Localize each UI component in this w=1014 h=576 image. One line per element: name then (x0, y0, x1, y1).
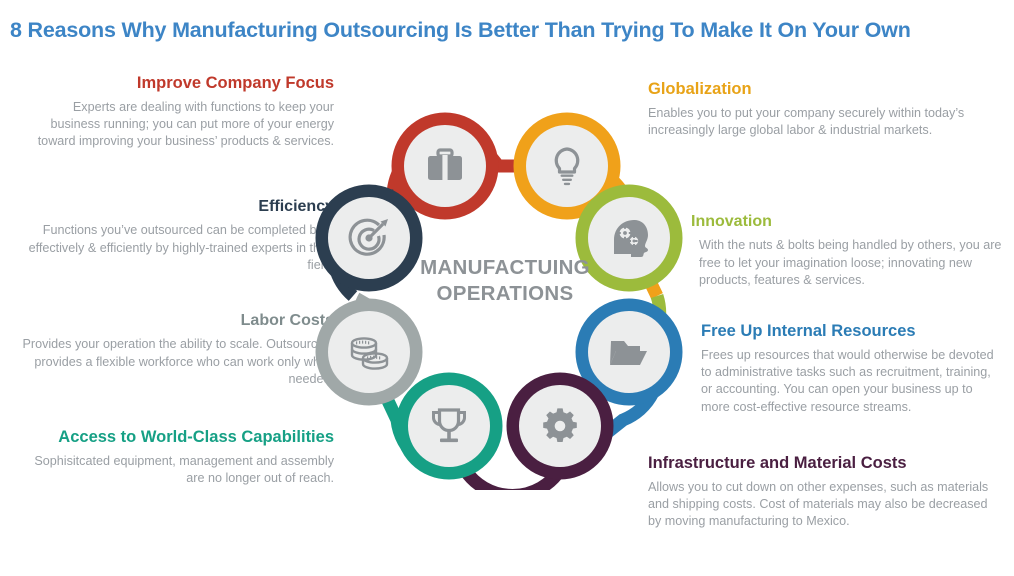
manufacturing-operations-octagon-diagram: MANUFACTUING OPERATIONS (305, 90, 705, 490)
reason-access-world-class-capabilities: Access to World-Class Capabilities Sophi… (10, 428, 334, 487)
reason-labor-costs: Labor Costs Provides your operation the … (20, 312, 334, 388)
reason-free-up-internal-resources: Free Up Internal Resources Frees up reso… (701, 322, 1001, 416)
reason-body: Sophisitcated equipment, management and … (10, 453, 334, 488)
reason-body: Functions you’ve outsourced can be compl… (20, 222, 334, 274)
infographic-page: 8 Reasons Why Manufacturing Outsourcing … (0, 0, 1014, 576)
gear-icon (543, 408, 577, 442)
reason-body: Frees up resources that would otherwise … (701, 347, 1001, 416)
reason-innovation: Innovation With the nuts & bolts being h… (691, 213, 1006, 289)
reason-heading: Innovation (691, 213, 1006, 231)
reason-body: Provides your operation the ability to s… (20, 336, 334, 388)
reason-efficiency: Efficiency Functions you’ve outsourced c… (20, 198, 334, 274)
disc-globalization (526, 125, 608, 207)
reason-improve-company-focus: Improve Company Focus Experts are dealin… (20, 74, 334, 151)
reason-heading: Free Up Internal Resources (701, 322, 1001, 341)
disc-access-world-class-capabilities (408, 385, 490, 467)
reason-heading: Labor Costs (20, 312, 334, 330)
reason-body: With the nuts & bolts being handled by o… (691, 237, 1006, 289)
page-title: 8 Reasons Why Manufacturing Outsourcing … (10, 18, 1004, 43)
reason-heading: Improve Company Focus (20, 74, 334, 93)
reason-heading: Access to World-Class Capabilities (10, 428, 334, 447)
reason-heading: Efficiency (20, 198, 334, 216)
reason-body: Experts are dealing with functions to ke… (20, 99, 334, 151)
